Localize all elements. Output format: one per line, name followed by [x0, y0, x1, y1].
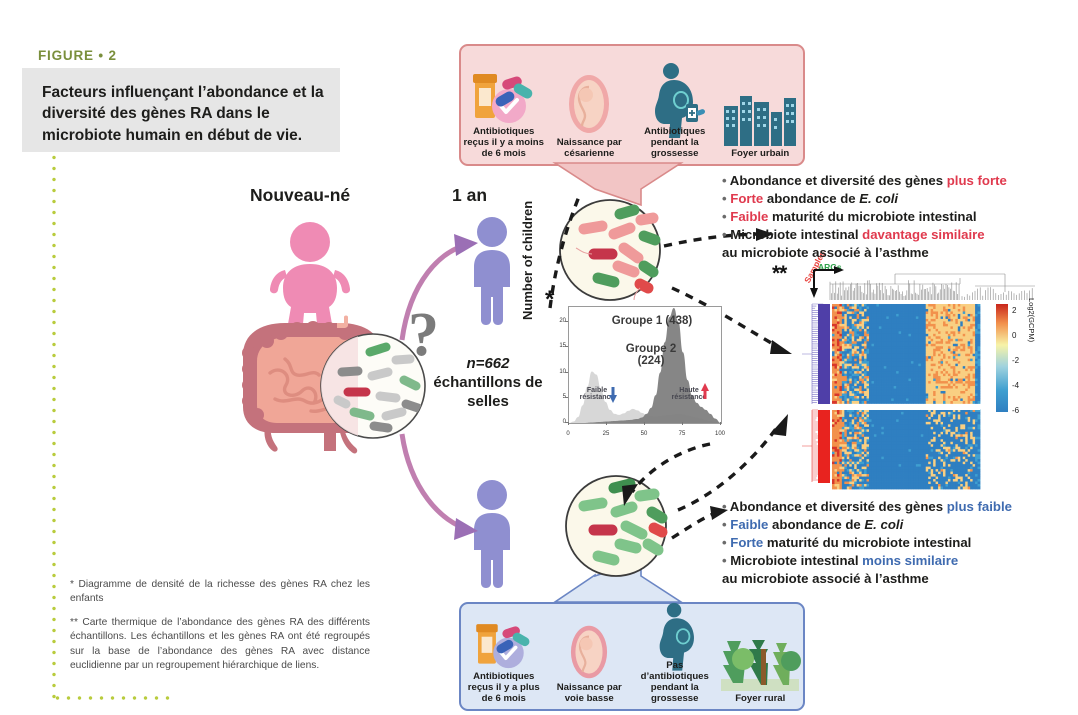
outcome-text: moins similaire [862, 553, 958, 568]
microbiome-zoom-circle-neutral [318, 330, 428, 442]
outcome-text: abondance de [763, 191, 859, 206]
protective-factor-caption: Foyer rural [718, 693, 804, 704]
protective-factor-item: Pas d’antibiotiques pendant la grossesse [632, 596, 718, 710]
sample-count-label: n=662 échantillons de selles [428, 355, 548, 411]
chart-y-tickmark [565, 321, 568, 322]
outcome-bullet: • Microbiote intestinal davantage simila… [722, 226, 1052, 260]
footnote-heatmap: ** Carte thermique de l’abondance des gè… [70, 616, 370, 674]
protective-factor-item: Antibiotiques reçus il y a plus de 6 moi… [461, 607, 547, 709]
newborn-figure-icon [255, 218, 365, 328]
risk-factor-caption: Foyer urbain [718, 148, 804, 159]
outcome-text: davantage similaire [862, 227, 984, 242]
chart-x-tickmark [606, 422, 607, 425]
protective-factor-caption: Antibiotiques reçus il y a plus de 6 moi… [461, 671, 547, 704]
outcome-text: E. coli [859, 191, 898, 206]
city-buildings-icon [718, 84, 804, 146]
outcome-bullet: • Faible abondance de E. coli [722, 516, 1052, 533]
heatmap-colorbar-tick: 2 [1012, 306, 1017, 315]
footnotes: * Diagramme de densité de la richesse de… [70, 578, 370, 683]
chart-x-tickmark [720, 422, 721, 425]
chart-x-tickmark [568, 422, 569, 425]
chart-y-tickmark [565, 346, 568, 347]
footnote-density-plot: * Diagramme de densité de la richesse de… [70, 578, 370, 607]
pregnant-woman-icon [632, 62, 718, 124]
growth-arrow-up-icon [396, 222, 486, 342]
heatmap-colorbar-tick: -2 [1012, 356, 1020, 365]
chart-x-tick: 25 [603, 431, 610, 437]
pill-bottle-icon [461, 62, 547, 124]
chart-plot-area: Groupe 1 (438) Groupe 2(224) Faiblerésis… [568, 306, 722, 424]
outcome-text: Forte [730, 535, 763, 550]
newborn-label: Nouveau-né [250, 185, 350, 206]
sample-count-n: n=662 [467, 355, 510, 372]
page-title: Facteurs influençant l’abondance et la d… [42, 82, 334, 146]
outcome-text: E. coli [864, 517, 903, 532]
outcome-text: plus faible [947, 499, 1012, 514]
chart-x-tick: 100 [715, 431, 725, 437]
density-chart: Number of children Groupe 1 (438) Groupe… [532, 292, 728, 452]
risk-factor-item: Antibiotiques pendant la grossesse [632, 62, 718, 164]
outcome-bullet: • Microbiote intestinal moins similairea… [722, 552, 1052, 586]
outcome-text: Faible [730, 517, 768, 532]
outcome-text: Microbiote intestinal [730, 227, 862, 242]
risk-factor-item: Antibiotiques reçus il y a moins de 6 mo… [461, 62, 547, 164]
outcome-text: Forte [730, 191, 763, 206]
trees-icon [718, 629, 804, 691]
risk-factors-box-bottom: Antibiotiques reçus il y a plus de 6 moi… [459, 602, 805, 711]
one-year-label: 1 an [452, 185, 487, 206]
heatmap-image: 20-2-4-6 [800, 270, 1050, 485]
growth-arrow-down-icon [396, 430, 486, 550]
dashed-arrow-bottom-to-bullets [668, 498, 728, 548]
outcome-bullet: • Faible maturité du microbiote intestin… [722, 208, 1052, 225]
outcome-bullet: • Abondance et diversité des gènes plus … [722, 172, 1052, 189]
figure-label: FIGURE • 2 [38, 48, 117, 63]
heatmap-panel: ARGs Samples 20-2-4-6 Log2(GCPM) [800, 262, 1078, 487]
risk-factors-box-top: Antibiotiques reçus il y a moins de 6 mo… [459, 44, 805, 166]
heatmap-colorbar-tick: -6 [1012, 406, 1020, 415]
heatmap-footnote-marker: ** [772, 262, 786, 286]
heatmap-colorbar-label: Log2(GCPM) [1027, 298, 1036, 342]
outcome-text: Abondance et diversité des gènes [730, 499, 947, 514]
chart-annotation-group1: Groupe 1 (438) [587, 315, 717, 327]
fetus-icon [547, 73, 633, 135]
decorative-dotted-vertical-line [52, 152, 56, 700]
chart-x-tick: 0 [566, 431, 569, 437]
chart-y-tickmark [565, 397, 568, 398]
decorative-dotted-horizontal-line [52, 696, 172, 700]
pill-bottle-icon [461, 607, 547, 669]
chart-x-tick: 75 [679, 431, 686, 437]
protective-factor-caption: Naissance par voie basse [547, 682, 633, 704]
outcome-bullet: • Abondance et diversité des gènes plus … [722, 498, 1052, 515]
chart-y-axis-label: Number of children [520, 201, 535, 320]
risk-factor-caption: Naissance par césarienne [547, 137, 633, 159]
protective-factor-item: Foyer rural [718, 629, 804, 709]
chart-x-tickmark [682, 422, 683, 425]
outcomes-list-top: • Abondance et diversité des gènes plus … [722, 172, 1052, 262]
heatmap-colorbar-tick: 0 [1012, 331, 1017, 340]
outcome-bullet: • Forte abondance de E. coli [722, 190, 1052, 207]
bullet-marker: • [722, 173, 730, 188]
risk-factor-caption: Antibiotiques reçus il y a moins de 6 mo… [461, 126, 547, 159]
outcome-text: maturité du microbiote intestinal [763, 535, 971, 550]
outcome-bullet: • Forte maturité du microbiote intestina… [722, 534, 1052, 551]
chart-annotation-high-resistance: Hauterésistance [665, 387, 713, 402]
outcome-text: Faible [730, 209, 768, 224]
chart-annotation-group2: Groupe 2(224) [595, 343, 707, 367]
chart-x-tick: 50 [641, 431, 648, 437]
risk-factor-caption: Antibiotiques pendant la grossesse [632, 126, 718, 159]
outcomes-list-bottom: • Abondance et diversité des gènes plus … [722, 498, 1052, 588]
outcome-text: abondance de [768, 517, 864, 532]
risk-factor-item: Naissance par césarienne [547, 73, 633, 164]
pregnant-woman-icon [632, 596, 718, 658]
chart-annotation-low-resistance: Faiblerésistance [573, 387, 621, 402]
protective-factor-item: Naissance par voie basse [547, 618, 633, 709]
outcome-text: Abondance et diversité des gènes [730, 173, 947, 188]
outcome-text: Microbiote intestinal [730, 553, 862, 568]
risk-factor-item: Foyer urbain [718, 84, 804, 164]
bullet-marker: • [722, 499, 730, 514]
protective-factor-caption: Pas d’antibiotiques pendant la grossesse [632, 660, 718, 705]
chart-x-tickmark [644, 422, 645, 425]
fetus-icon [547, 618, 633, 680]
heatmap-colorbar-tick: -4 [1012, 381, 1020, 390]
outcome-text: maturité du microbiote intestinal [768, 209, 976, 224]
sample-count-text: échantillons de selles [433, 374, 542, 410]
outcome-text: au microbiote associé à l’asthme [722, 571, 929, 586]
outcome-text: plus forte [947, 173, 1007, 188]
outcome-text: au microbiote associé à l’asthme [722, 245, 929, 260]
chart-y-tickmark [565, 372, 568, 373]
